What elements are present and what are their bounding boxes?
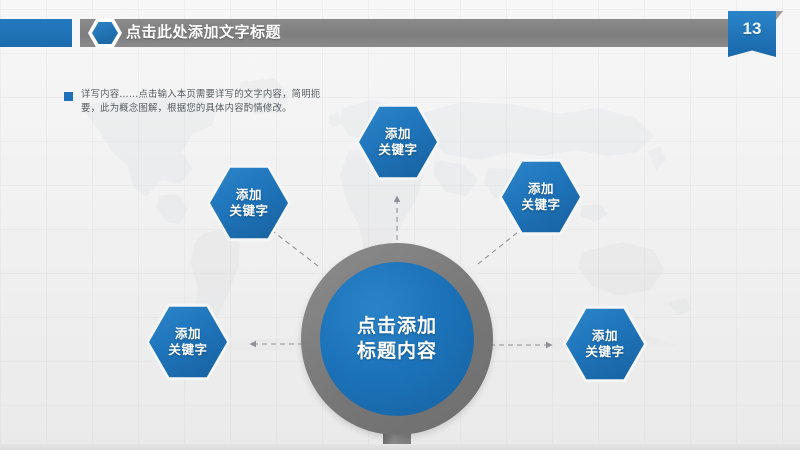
hex-node-bottom-left[interactable]: 添加 关键字: [146, 303, 230, 381]
hex-node-bottom-right[interactable]: 添加 关键字: [563, 305, 647, 383]
hex-node-right[interactable]: 添加 关键字: [499, 158, 583, 236]
concept-diagram: 点击添加 标题内容 添加 关键字 添加 关键字 添加: [0, 0, 800, 450]
magnifier-ring[interactable]: 点击添加 标题内容: [301, 243, 493, 435]
hex-bottom-left-line-2: 关键字: [168, 342, 207, 358]
center-line-2: 标题内容: [357, 339, 437, 364]
hex-node-top[interactable]: 添加 关键字: [356, 103, 440, 181]
hex-bottom-right-line-1: 添加: [592, 328, 618, 344]
hex-right-line-1: 添加: [528, 181, 554, 197]
bottom-strip: [0, 444, 800, 450]
slide-canvas: 点击此处添加文字标题 13 详写内容……点击输入本页需要详写的文字内容，简明扼要…: [0, 0, 800, 450]
hex-right-line-2: 关键字: [521, 197, 560, 213]
hex-node-left[interactable]: 添加 关键字: [207, 164, 291, 242]
hex-left-line-1: 添加: [236, 187, 262, 203]
hex-top-line-2: 关键字: [378, 142, 417, 158]
hex-bottom-left-line-1: 添加: [175, 326, 201, 342]
center-node[interactable]: 点击添加 标题内容: [320, 262, 474, 416]
hex-top-line-1: 添加: [385, 126, 411, 142]
hex-bottom-right-line-2: 关键字: [585, 344, 624, 360]
center-line-1: 点击添加: [357, 314, 437, 339]
hex-left-line-2: 关键字: [229, 203, 268, 219]
